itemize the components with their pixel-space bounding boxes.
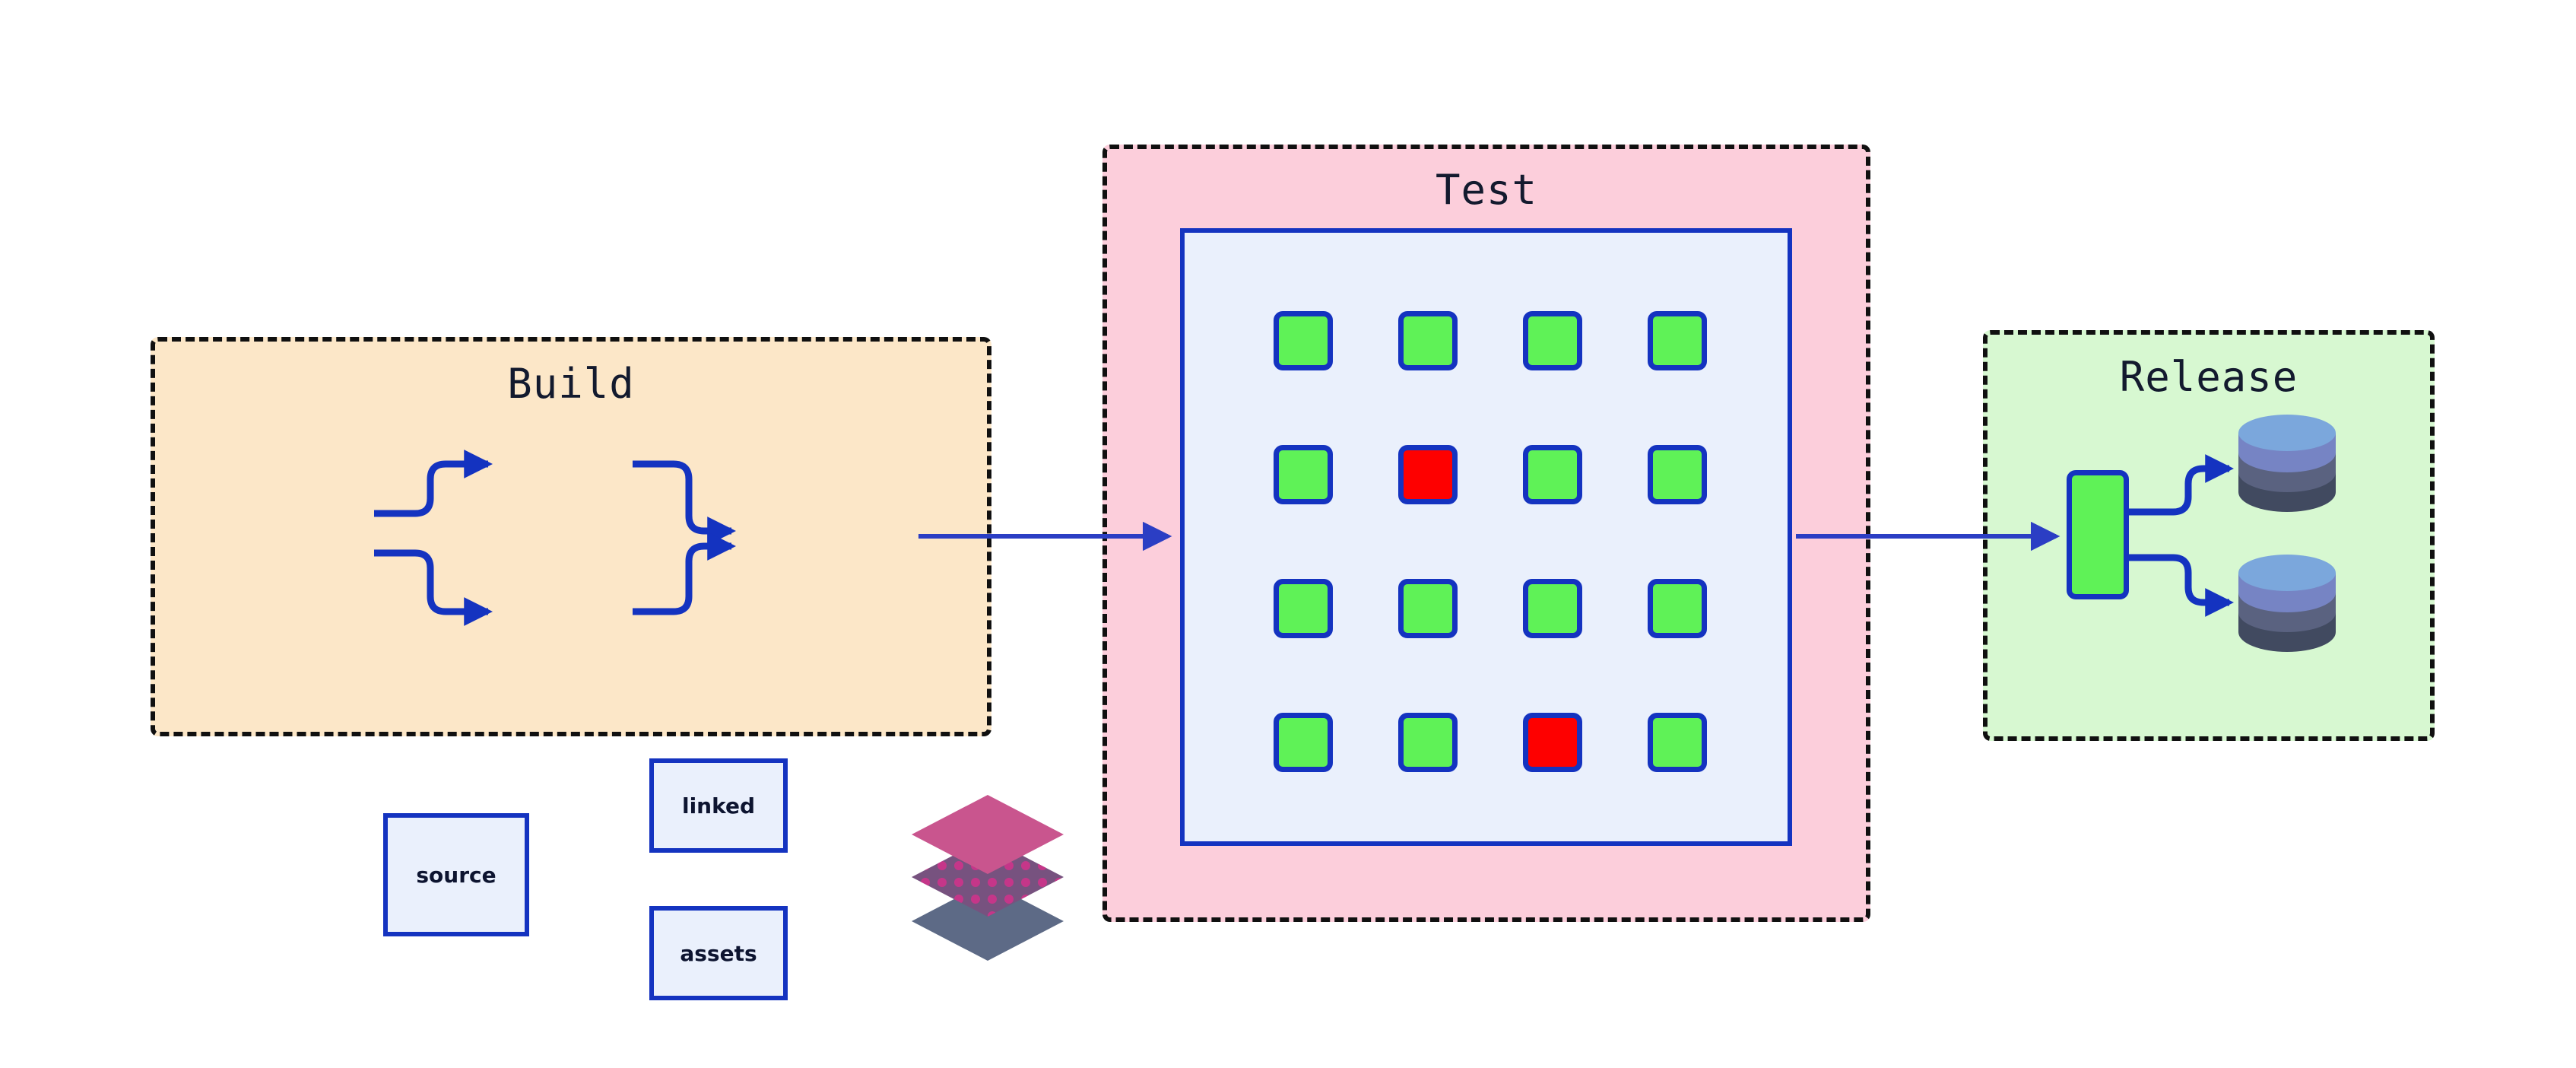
test-cell-pass[interactable] bbox=[1398, 311, 1458, 370]
test-cell-pass[interactable] bbox=[1274, 445, 1333, 504]
test-cell-fail[interactable] bbox=[1398, 445, 1458, 504]
stage-title-release: Release bbox=[1988, 353, 2430, 401]
test-cell-pass[interactable] bbox=[1648, 445, 1707, 504]
build-node-linked[interactable]: linked bbox=[649, 758, 788, 853]
test-cell-pass[interactable] bbox=[1648, 713, 1707, 772]
build-node-linked-label: linked bbox=[682, 793, 755, 818]
build-node-source-label: source bbox=[416, 863, 496, 888]
database-icon[interactable] bbox=[2235, 553, 2339, 653]
test-result-board bbox=[1180, 228, 1792, 846]
test-cell-pass[interactable] bbox=[1398, 579, 1458, 638]
test-cell-pass[interactable] bbox=[1274, 311, 1333, 370]
test-cell-pass[interactable] bbox=[1523, 445, 1582, 504]
build-node-assets[interactable]: assets bbox=[649, 906, 788, 1000]
test-cell-pass[interactable] bbox=[1648, 311, 1707, 370]
layers-icon bbox=[900, 790, 1075, 965]
test-cell-pass[interactable] bbox=[1274, 713, 1333, 772]
test-cell-pass[interactable] bbox=[1523, 311, 1582, 370]
release-gate-bar[interactable] bbox=[2067, 470, 2129, 599]
database-icon[interactable] bbox=[2235, 413, 2339, 513]
test-cell-pass[interactable] bbox=[1523, 579, 1582, 638]
test-cell-fail[interactable] bbox=[1523, 713, 1582, 772]
stage-panel-release[interactable]: Release bbox=[1983, 330, 2435, 741]
stage-panel-build[interactable]: Build source linked assets bbox=[151, 337, 991, 736]
stage-title-build: Build bbox=[155, 360, 987, 408]
build-node-assets-label: assets bbox=[680, 941, 757, 966]
test-cell-pass[interactable] bbox=[1648, 579, 1707, 638]
diagram-canvas: Build source linked assets Te bbox=[0, 0, 2576, 1068]
stage-title-test: Test bbox=[1107, 166, 1866, 214]
test-result-grid bbox=[1224, 311, 1756, 772]
build-node-source[interactable]: source bbox=[383, 813, 529, 936]
test-cell-pass[interactable] bbox=[1398, 713, 1458, 772]
test-cell-pass[interactable] bbox=[1274, 579, 1333, 638]
